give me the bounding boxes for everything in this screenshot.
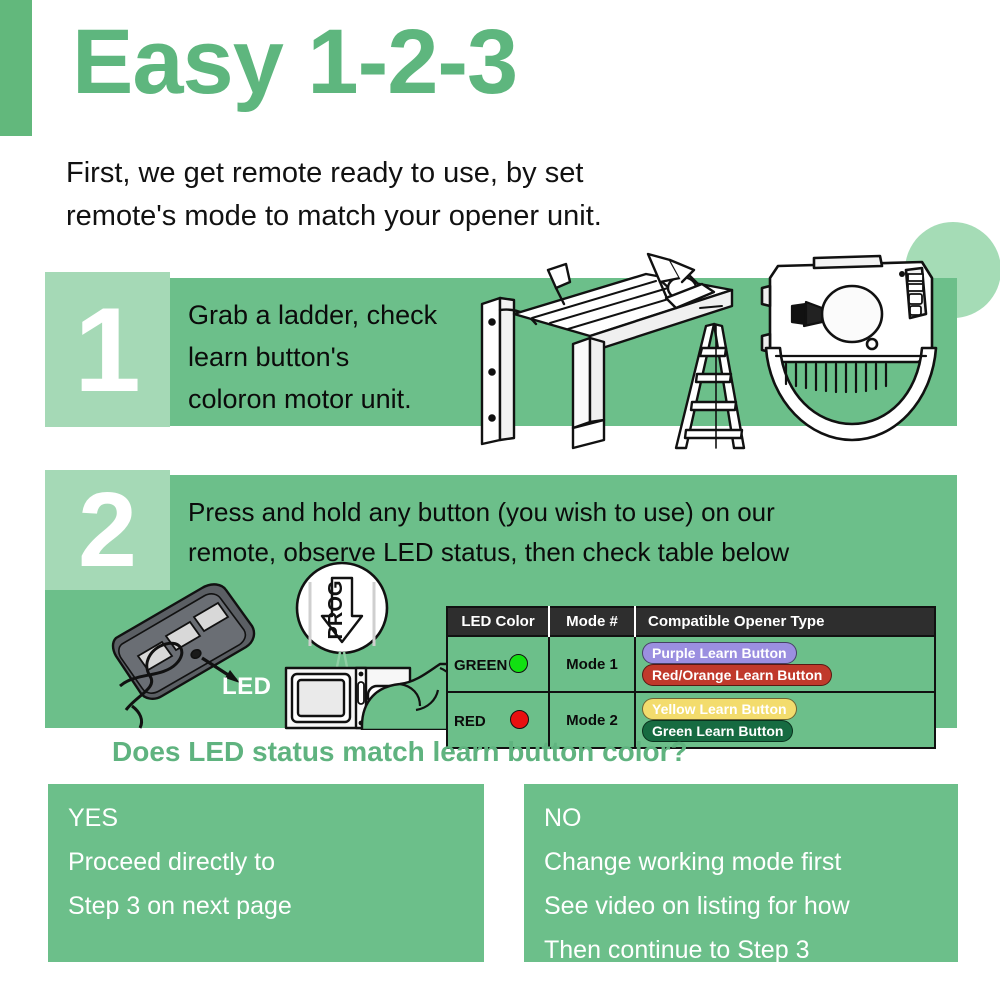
answer-no-title: NO (544, 796, 850, 840)
led-dot-green-icon (509, 654, 528, 673)
accent-bar (0, 0, 32, 136)
remote-icon (113, 584, 254, 728)
infographic-page: Easy 1-2-3 First, we get remote ready to… (0, 0, 1000, 1000)
header-mode-number: Mode # (549, 607, 635, 636)
step-1-number: 1 (45, 272, 170, 427)
step-1-line-1: Grab a ladder, check (188, 294, 508, 336)
table-header-row: LED Color Mode # Compatible Opener Type (447, 607, 935, 636)
intro-line-1: First, we get remote ready to use, by se… (66, 152, 866, 195)
cell-led-color-green: GREEN (447, 636, 549, 692)
answer-no-line-2: See video on listing for how (544, 884, 850, 928)
answer-yes-line-1: Proceed directly to (68, 840, 292, 884)
led-dot-red-icon (510, 710, 529, 729)
answer-no-line-1: Change working mode first (544, 840, 850, 884)
step-2-illustration: PROG (110, 560, 460, 730)
step-1-text: Grab a ladder, check learn button's colo… (188, 294, 508, 420)
led-color-label: GREEN (454, 657, 507, 674)
intro-paragraph: First, we get remote ready to use, by se… (66, 152, 866, 238)
step-1-line-3: coloron motor unit. (188, 378, 508, 420)
header-led-color: LED Color (447, 607, 549, 636)
prog-magnifier-icon: PROG (297, 563, 387, 672)
pill-purple-learn-button: Purple Learn Button (642, 642, 797, 664)
led-mode-table: LED Color Mode # Compatible Opener Type … (446, 606, 936, 749)
header-compatible-opener-type: Compatible Opener Type (635, 607, 935, 636)
cell-opener-types-mode-1: Purple Learn ButtonRed/Orange Learn Butt… (635, 636, 935, 692)
step-2-line-1: Press and hold any button (you wish to u… (188, 492, 948, 532)
step-1-illustration (470, 252, 960, 452)
decision-question: Does LED status match learn button color… (112, 736, 688, 768)
ladder-icon (676, 324, 744, 448)
answer-no-line-3: Then continue to Step 3 (544, 928, 850, 972)
table-row: GREEN Mode 1 Purple Learn ButtonRed/Oran… (447, 636, 935, 692)
pill-red-orange-learn-button: Red/Orange Learn Button (642, 664, 832, 686)
intro-line-2: remote's mode to match your opener unit. (66, 195, 866, 238)
answer-yes-text: YES Proceed directly to Step 3 on next p… (68, 796, 292, 928)
svg-text:PROG: PROG (325, 581, 347, 640)
led-color-label: RED (454, 713, 486, 730)
step-1-line-2: learn button's (188, 336, 508, 378)
page-title: Easy 1-2-3 (72, 16, 517, 108)
answer-no-text: NO Change working mode first See video o… (544, 796, 850, 972)
cell-mode-1: Mode 1 (549, 636, 635, 692)
motor-unit-icon (762, 256, 936, 440)
pill-yellow-learn-button: Yellow Learn Button (642, 698, 797, 720)
answer-yes-title: YES (68, 796, 292, 840)
answer-box-yes: YES Proceed directly to Step 3 on next p… (48, 784, 484, 962)
led-label: LED (222, 673, 272, 701)
answer-box-no: NO Change working mode first See video o… (524, 784, 958, 962)
answer-yes-line-2: Step 3 on next page (68, 884, 292, 928)
